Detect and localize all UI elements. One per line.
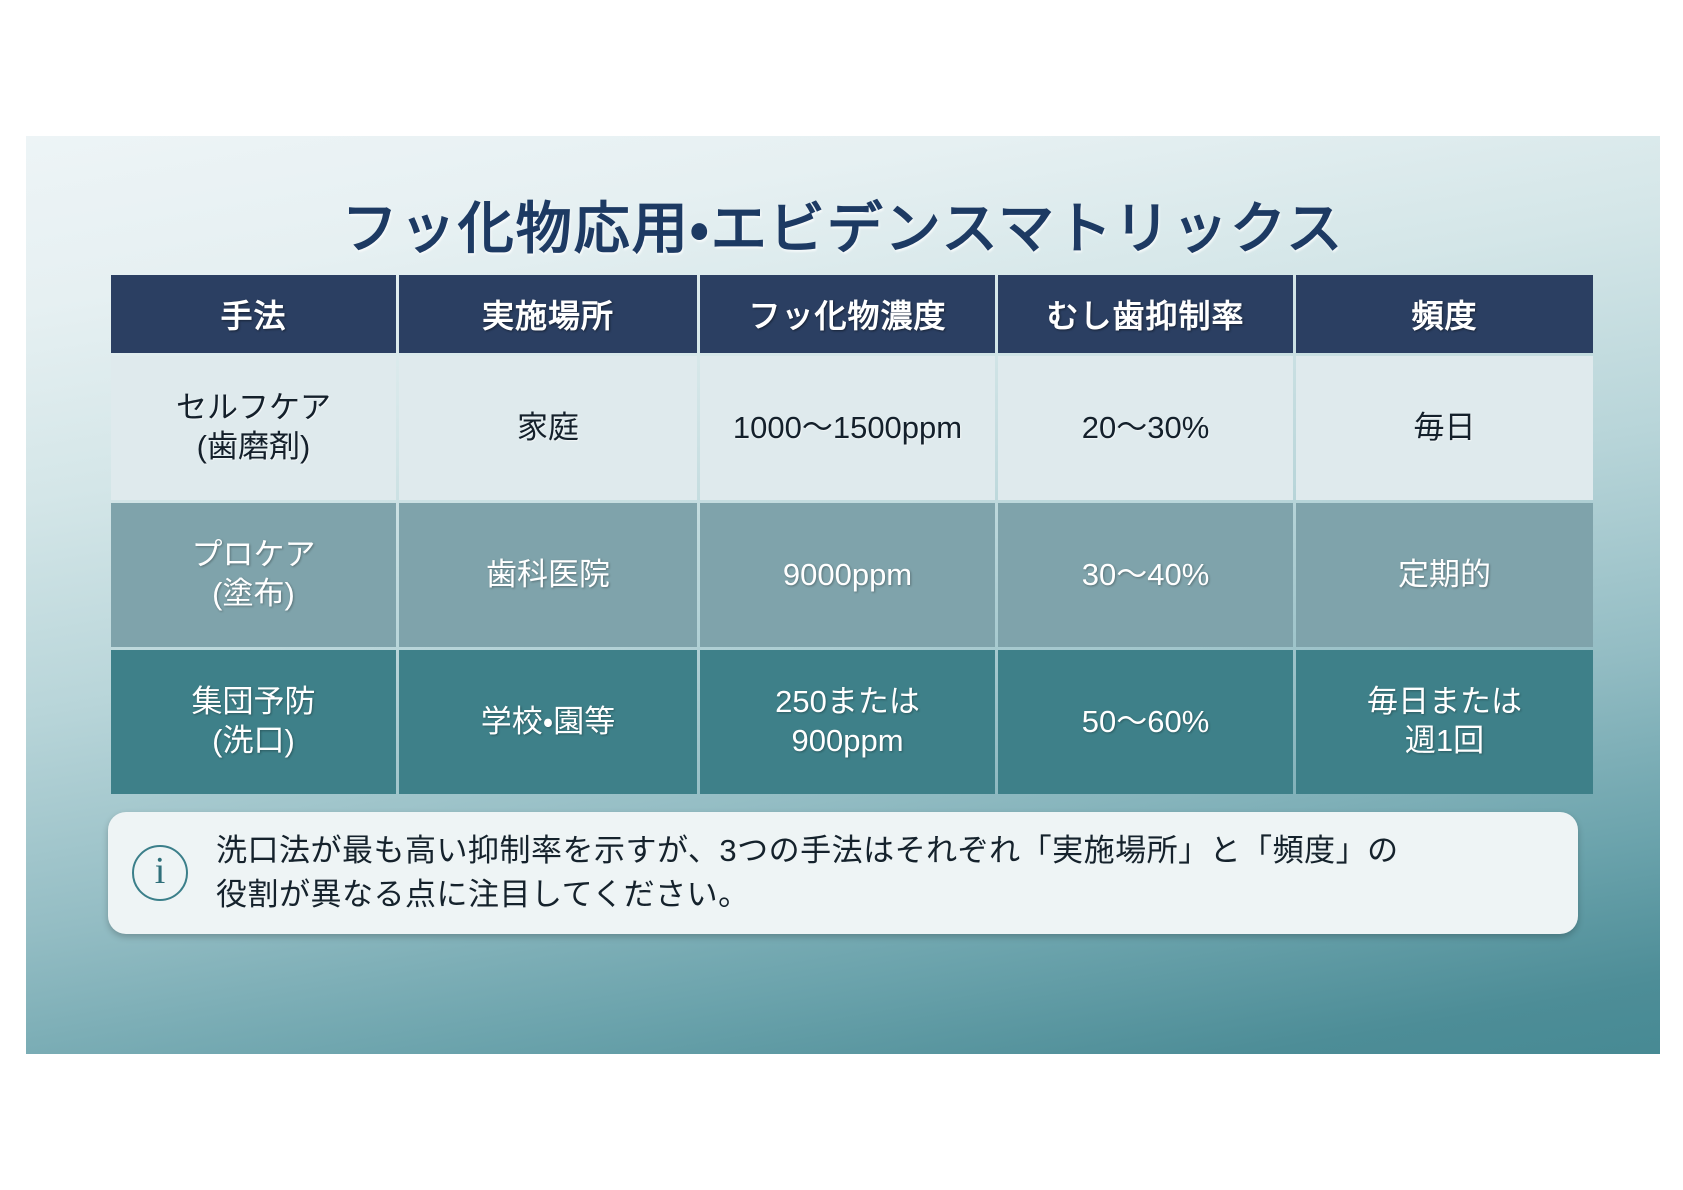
cell-place: 歯科医院 (399, 503, 697, 647)
cell-reduction: 20〜30% (998, 356, 1293, 500)
cell-frequency: 毎日 (1296, 356, 1593, 500)
column-header-concentration: フッ化物濃度 (700, 275, 995, 353)
frequency-line1: 毎日または (1302, 683, 1587, 722)
column-header-reduction: むし歯抑制率 (998, 275, 1293, 353)
frequency-line1: 定期的 (1398, 557, 1491, 592)
table-row: セルフケア (歯磨剤) 家庭 1000〜1500ppm 20〜30% 毎日 (111, 356, 1593, 500)
table-row: 集団予防 (洗口) 学校・園等 250または 900ppm 50〜60% 毎日ま… (111, 650, 1593, 794)
note-card: i 洗口法が最も高い抑制率を示すが、3つの手法はそれぞれ「実施場所」と「頻度」の… (108, 812, 1578, 934)
info-icon: i (132, 845, 188, 901)
column-header-frequency: 頻度 (1296, 275, 1593, 353)
table-header-row: 手法 実施場所 フッ化物濃度 むし歯抑制率 頻度 (111, 275, 1593, 353)
slide-panel: フッ化物応用・エビデンスマトリックス 手法 実施場所 フッ化物濃度 むし歯抑制率… (26, 136, 1660, 1054)
cell-method: プロケア (塗布) (111, 503, 396, 647)
cell-place: 家庭 (399, 356, 697, 500)
note-text: 洗口法が最も高い抑制率を示すが、3つの手法はそれぞれ「実施場所」と「頻度」の 役… (216, 829, 1552, 917)
note-line-1: 洗口法が最も高い抑制率を示すが、3つの手法はそれぞれ「実施場所」と「頻度」の (216, 829, 1552, 873)
table-row: プロケア (塗布) 歯科医院 9000ppm 30〜40% 定期的 (111, 503, 1593, 647)
cell-concentration: 1000〜1500ppm (700, 356, 995, 500)
column-header-method: 手法 (111, 275, 396, 353)
cell-concentration: 9000ppm (700, 503, 995, 647)
method-sub-label: (塗布) (117, 575, 390, 614)
method-main-label: プロケア (192, 537, 316, 572)
concentration-line1: 9000ppm (783, 557, 912, 592)
cell-concentration: 250または 900ppm (700, 650, 995, 794)
page-title: フッ化物応用・エビデンスマトリックス (26, 184, 1660, 265)
evidence-matrix-table: 手法 実施場所 フッ化物濃度 むし歯抑制率 頻度 セルフケア (歯磨剤) 家庭 … (108, 272, 1596, 797)
note-line-2: 役割が異なる点に注目してください。 (216, 873, 1552, 917)
method-main-label: 集団予防 (192, 684, 316, 719)
concentration-line2: 900ppm (706, 722, 989, 761)
cell-frequency: 毎日または 週1回 (1296, 650, 1593, 794)
concentration-line1: 250または (706, 683, 989, 722)
cell-place: 学校・園等 (399, 650, 697, 794)
cell-frequency: 定期的 (1296, 503, 1593, 647)
frequency-line1: 毎日 (1414, 410, 1476, 445)
cell-method: 集団予防 (洗口) (111, 650, 396, 794)
column-header-place: 実施場所 (399, 275, 697, 353)
cell-reduction: 30〜40% (998, 503, 1293, 647)
method-main-label: セルフケア (176, 390, 331, 425)
frequency-line2: 週1回 (1302, 722, 1587, 761)
cell-method: セルフケア (歯磨剤) (111, 356, 396, 500)
cell-reduction: 50〜60% (998, 650, 1293, 794)
method-sub-label: (洗口) (117, 722, 390, 761)
concentration-line1: 1000〜1500ppm (733, 410, 962, 445)
method-sub-label: (歯磨剤) (117, 428, 390, 467)
